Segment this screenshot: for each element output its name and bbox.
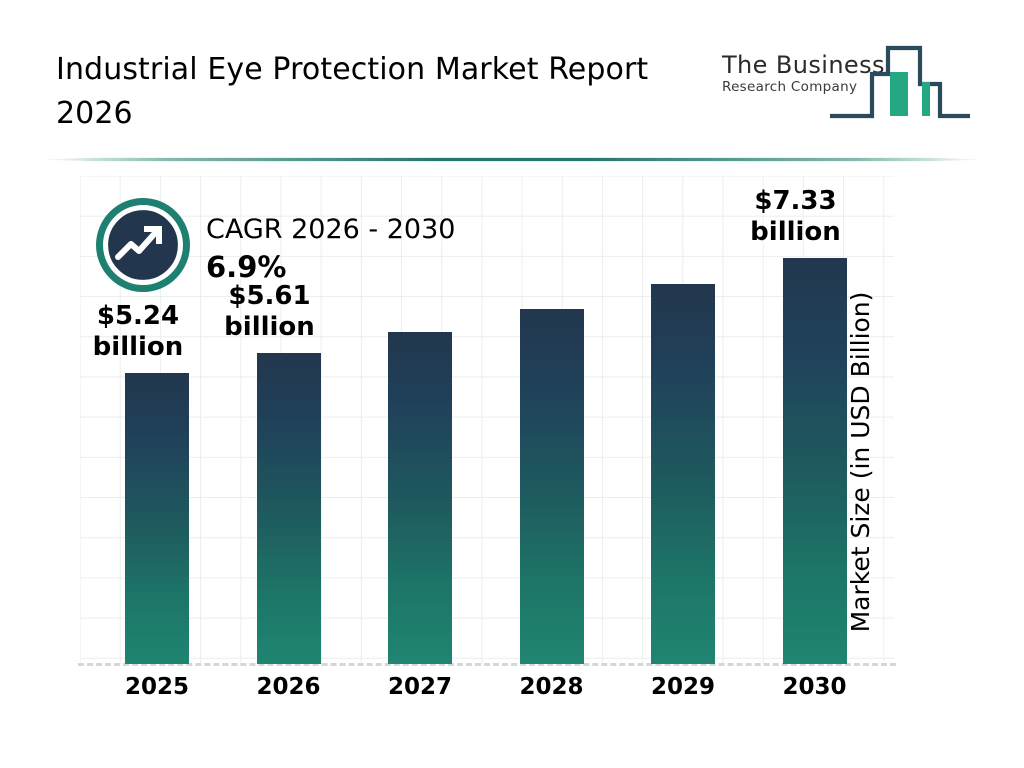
trending-up-icon: [96, 198, 190, 292]
bar-2028[interactable]: [520, 309, 584, 664]
bar-value-label-2025: $5.24 billion: [78, 301, 198, 363]
bar-2027[interactable]: [388, 332, 452, 664]
header-divider: [36, 157, 988, 162]
x-axis-tick-labels: 202520262027202820292030: [80, 672, 894, 714]
company-logo: The Business Research Company: [722, 36, 972, 126]
bar-2030[interactable]: [783, 258, 847, 664]
x-tick-2029: 2029: [618, 672, 748, 702]
page-title: Industrial Eye Protection Market Report …: [56, 48, 696, 136]
header: Industrial Eye Protection Market Report …: [0, 0, 1024, 150]
x-tick-2027: 2027: [355, 672, 485, 702]
bar-chart-skyline-logo-mark: [828, 36, 972, 126]
cagr-text-block: CAGR 2026 - 2030 6.9%: [206, 212, 455, 286]
y-axis-label: Market Size (in USD Billion): [846, 272, 876, 652]
x-tick-2025: 2025: [92, 672, 222, 702]
cagr-period-label: CAGR 2026 - 2030: [206, 212, 455, 248]
cagr-value: 6.9%: [206, 248, 455, 286]
x-tick-2028: 2028: [487, 672, 617, 702]
cagr-callout: CAGR 2026 - 2030 6.9%: [96, 198, 516, 306]
x-tick-2026: 2026: [224, 672, 354, 702]
x-tick-2030: 2030: [750, 672, 880, 702]
bar-value-label-2030: $7.33 billion: [736, 186, 856, 248]
bar-2026[interactable]: [257, 353, 321, 664]
bar-slot-2029: [618, 176, 748, 664]
bar-2029[interactable]: [651, 284, 715, 664]
bar-2025[interactable]: [125, 373, 189, 664]
